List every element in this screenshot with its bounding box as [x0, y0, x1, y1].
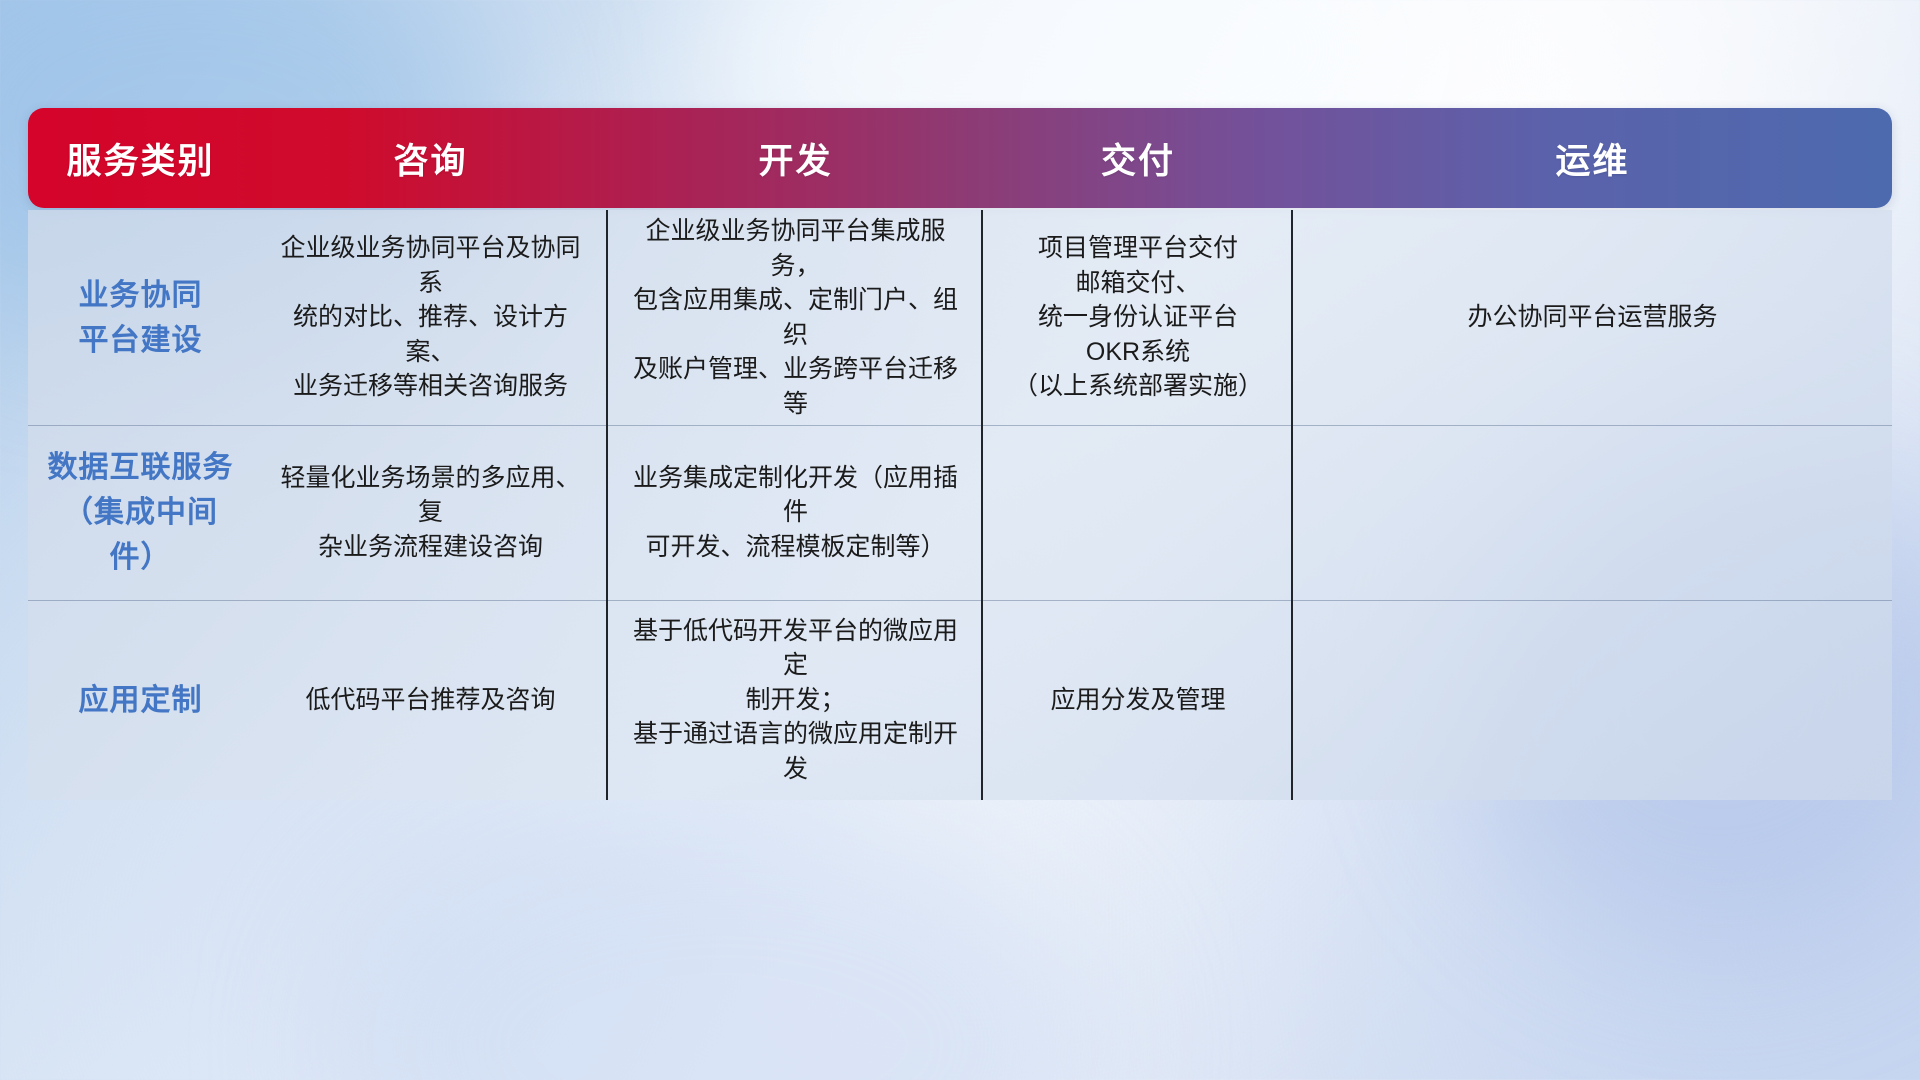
table-body: 业务协同 平台建设 企业级业务协同平台及协同系 统的对比、推荐、设计方案、 业务…	[28, 210, 1892, 800]
table-header-row: 服务类别 咨询 开发 交付 运维	[28, 108, 1892, 208]
cell-consulting: 低代码平台推荐及咨询	[253, 600, 608, 800]
cell-category: 数据互联服务 （集成中间件）	[28, 425, 253, 600]
column-header-category: 服务类别	[28, 108, 253, 208]
cell-delivery: 应用分发及管理	[983, 600, 1293, 800]
cell-development: 企业级业务协同平台集成服务， 包含应用集成、定制门户、组织 及账户管理、业务跨平…	[608, 210, 983, 425]
table-row: 应用定制 低代码平台推荐及咨询 基于低代码开发平台的微应用定 制开发； 基于通过…	[28, 600, 1892, 800]
table-row: 数据互联服务 （集成中间件） 轻量化业务场景的多应用、复 杂业务流程建设咨询 业…	[28, 425, 1892, 600]
cell-development: 基于低代码开发平台的微应用定 制开发； 基于通过语言的微应用定制开发	[608, 600, 983, 800]
column-header-operations: 运维	[1293, 108, 1892, 208]
cell-consulting: 轻量化业务场景的多应用、复 杂业务流程建设咨询	[253, 425, 608, 600]
background-blob-bottom	[340, 810, 1100, 1080]
column-header-consulting: 咨询	[253, 108, 608, 208]
column-header-development: 开发	[608, 108, 983, 208]
cell-delivery	[983, 425, 1293, 600]
service-matrix-table: 服务类别 咨询 开发 交付 运维 业务协同 平台建设 企业级业务协同平台及协同系…	[28, 108, 1892, 800]
column-header-delivery: 交付	[983, 108, 1293, 208]
cell-consulting: 企业级业务协同平台及协同系 统的对比、推荐、设计方案、 业务迁移等相关咨询服务	[253, 210, 608, 425]
cell-category: 业务协同 平台建设	[28, 210, 253, 425]
cell-operations	[1293, 425, 1892, 600]
cell-operations	[1293, 600, 1892, 800]
cell-category: 应用定制	[28, 600, 253, 800]
cell-development: 业务集成定制化开发（应用插件 可开发、流程模板定制等）	[608, 425, 983, 600]
cell-operations: 办公协同平台运营服务	[1293, 210, 1892, 425]
cell-delivery: 项目管理平台交付 邮箱交付、 统一身份认证平台 OKR系统 （以上系统部署实施）	[983, 210, 1293, 425]
table-row: 业务协同 平台建设 企业级业务协同平台及协同系 统的对比、推荐、设计方案、 业务…	[28, 210, 1892, 425]
